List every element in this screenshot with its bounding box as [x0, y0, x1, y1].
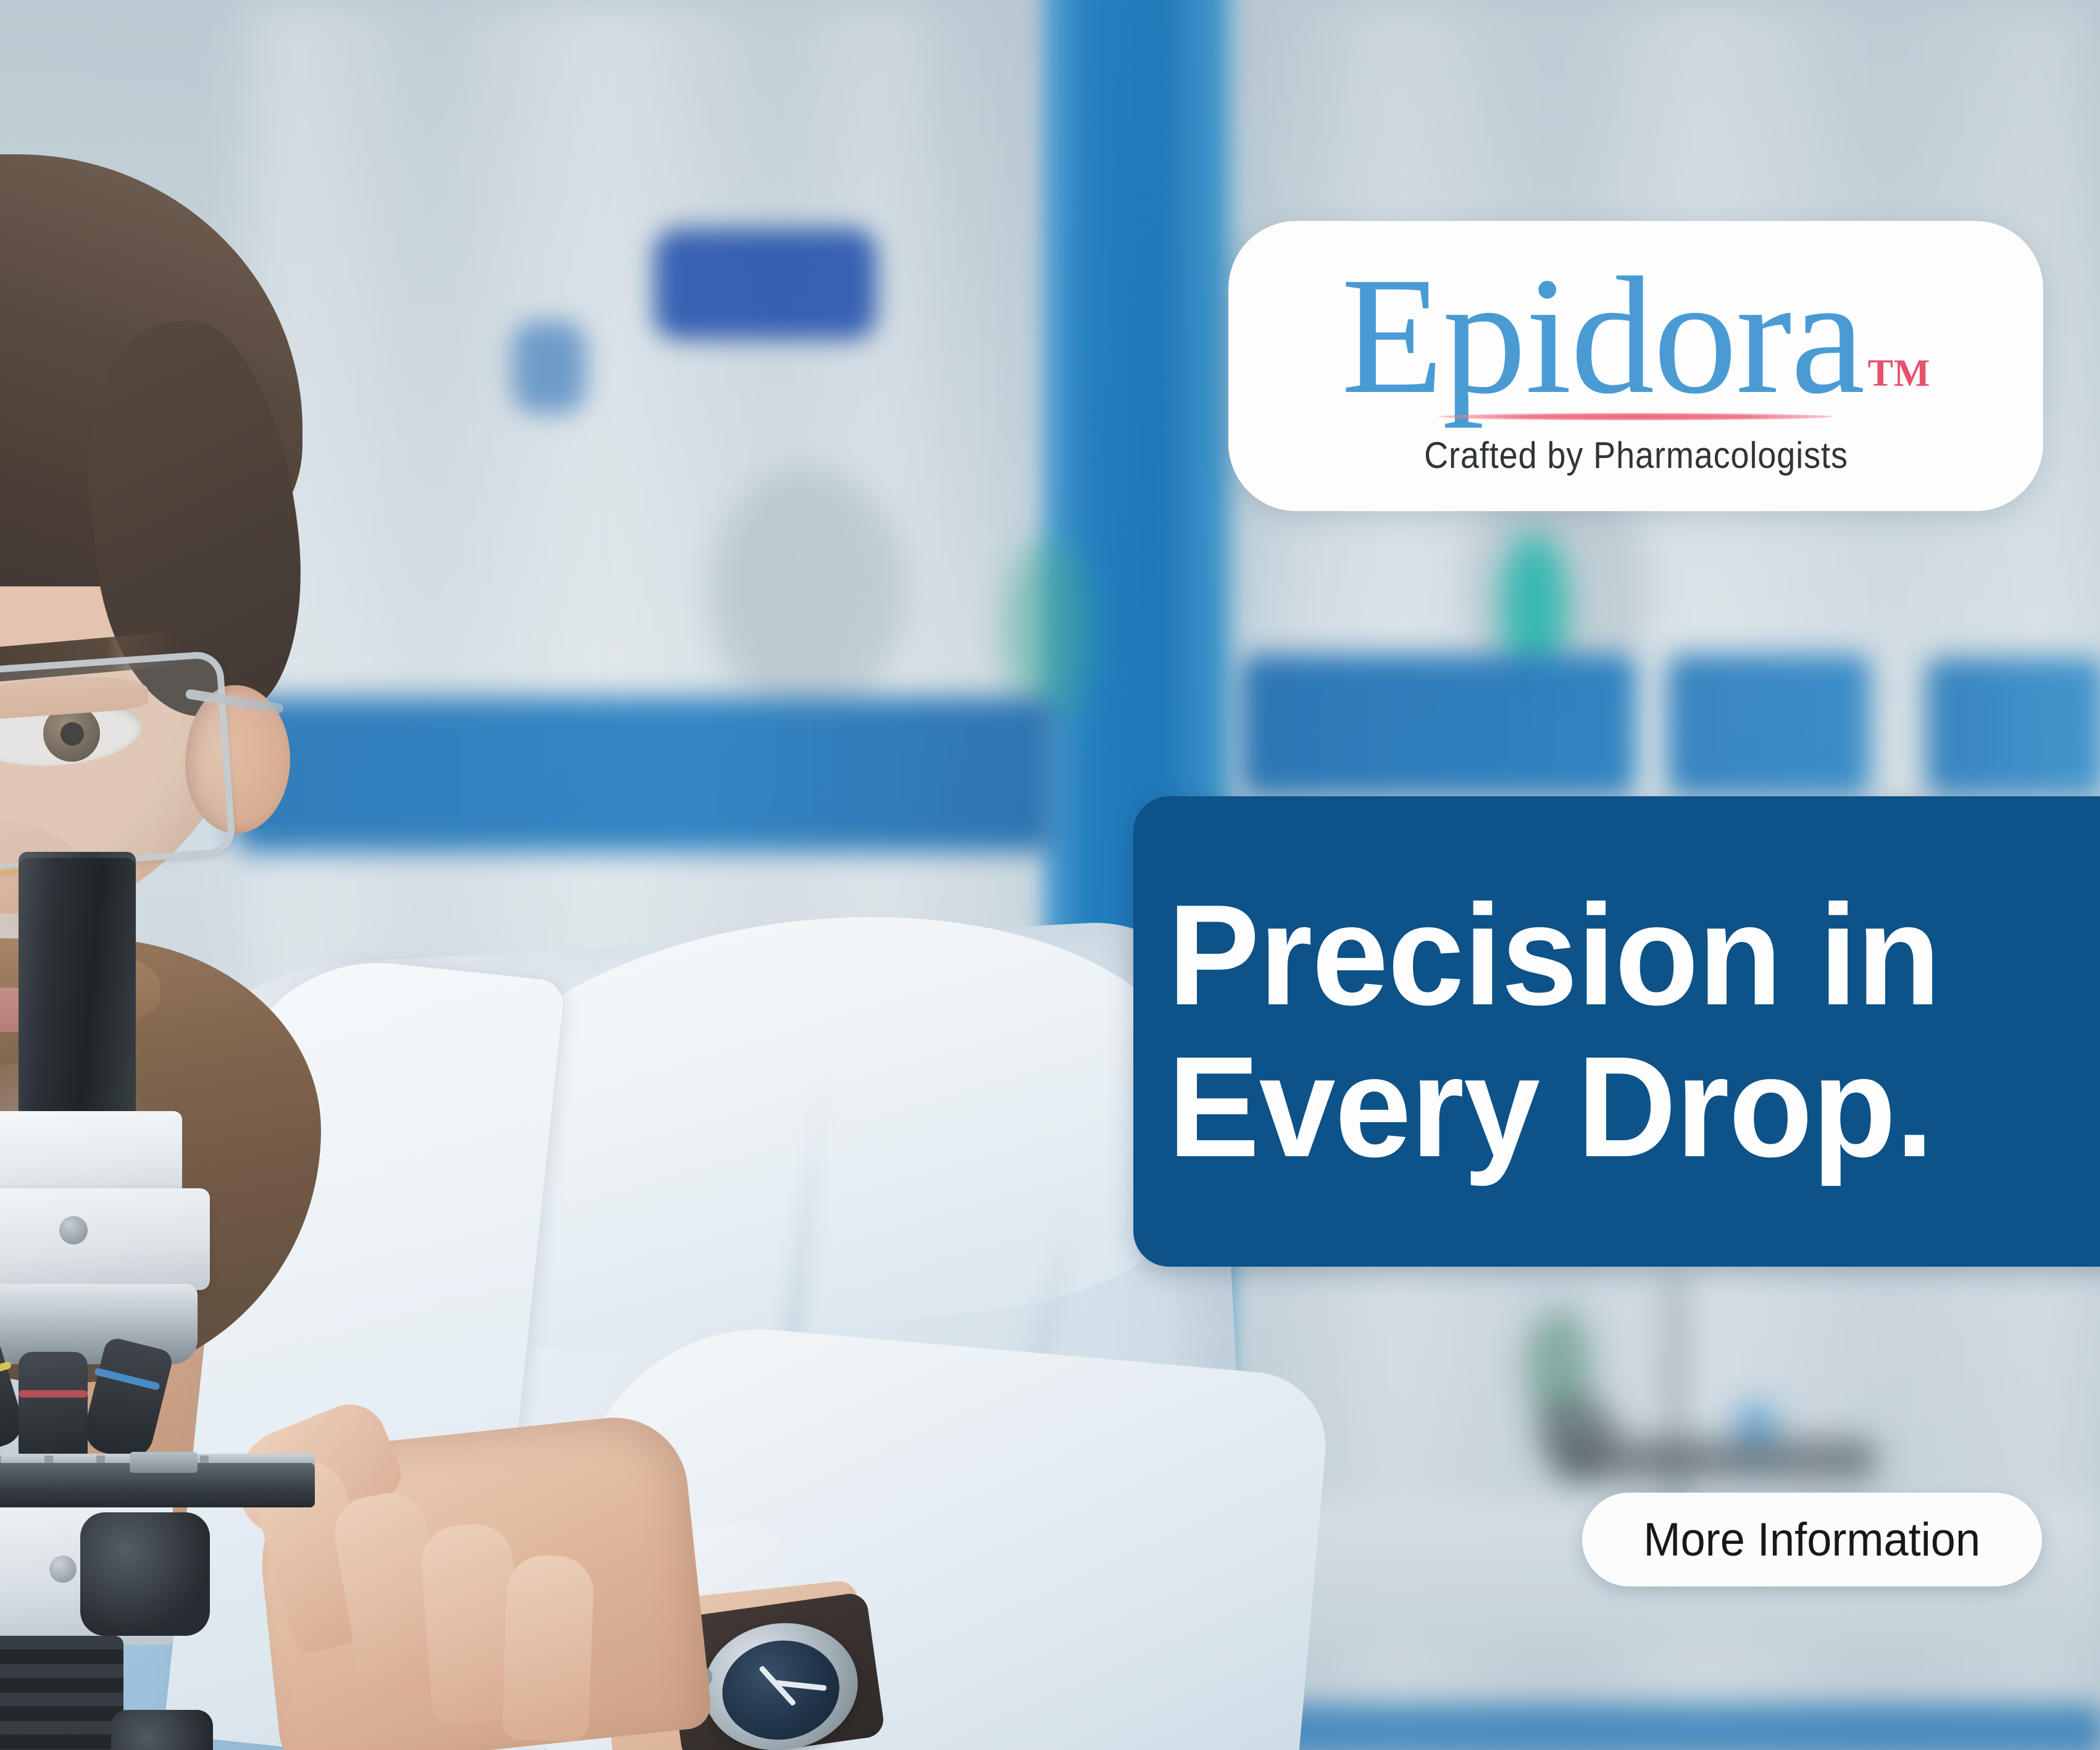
- brand-wordmark: Epidora: [1341, 262, 1864, 409]
- microscope-condenser-column: [0, 1636, 123, 1750]
- brand-logo-card: Epidora TM Crafted by Pharmacologists: [1228, 221, 2043, 511]
- microscope-head-screw: [59, 1216, 88, 1244]
- objective-ring-red: [19, 1390, 88, 1398]
- more-information-button[interactable]: More Information: [1582, 1493, 2042, 1586]
- advertisement-banner: Epidora TM Crafted by Pharmacologists Pr…: [0, 0, 2100, 1750]
- finger-little: [502, 1554, 594, 1743]
- trademark-icon: TM: [1868, 352, 1931, 396]
- brand-logo-lockup: Epidora TM: [1341, 262, 1931, 409]
- more-information-label: More Information: [1644, 1513, 1981, 1567]
- microscope-eyepiece: [19, 858, 136, 1123]
- headline-line-2: Every Drop.: [1168, 1031, 2094, 1183]
- microscope-coarse-knob-right: [80, 1512, 210, 1636]
- headline-panel: Precision in Every Drop.: [1133, 796, 2100, 1267]
- microscope-head-lower: [0, 1188, 210, 1290]
- headline-line-1: Precision in: [1168, 880, 2094, 1031]
- brand-tagline: Crafted by Pharmacologists: [1424, 434, 1848, 477]
- microscope-arm-screw: [49, 1556, 77, 1583]
- microscope: [0, 852, 309, 1750]
- microscope-fine-focus-knob: [111, 1710, 213, 1750]
- microscope-slide-clip: [130, 1452, 198, 1473]
